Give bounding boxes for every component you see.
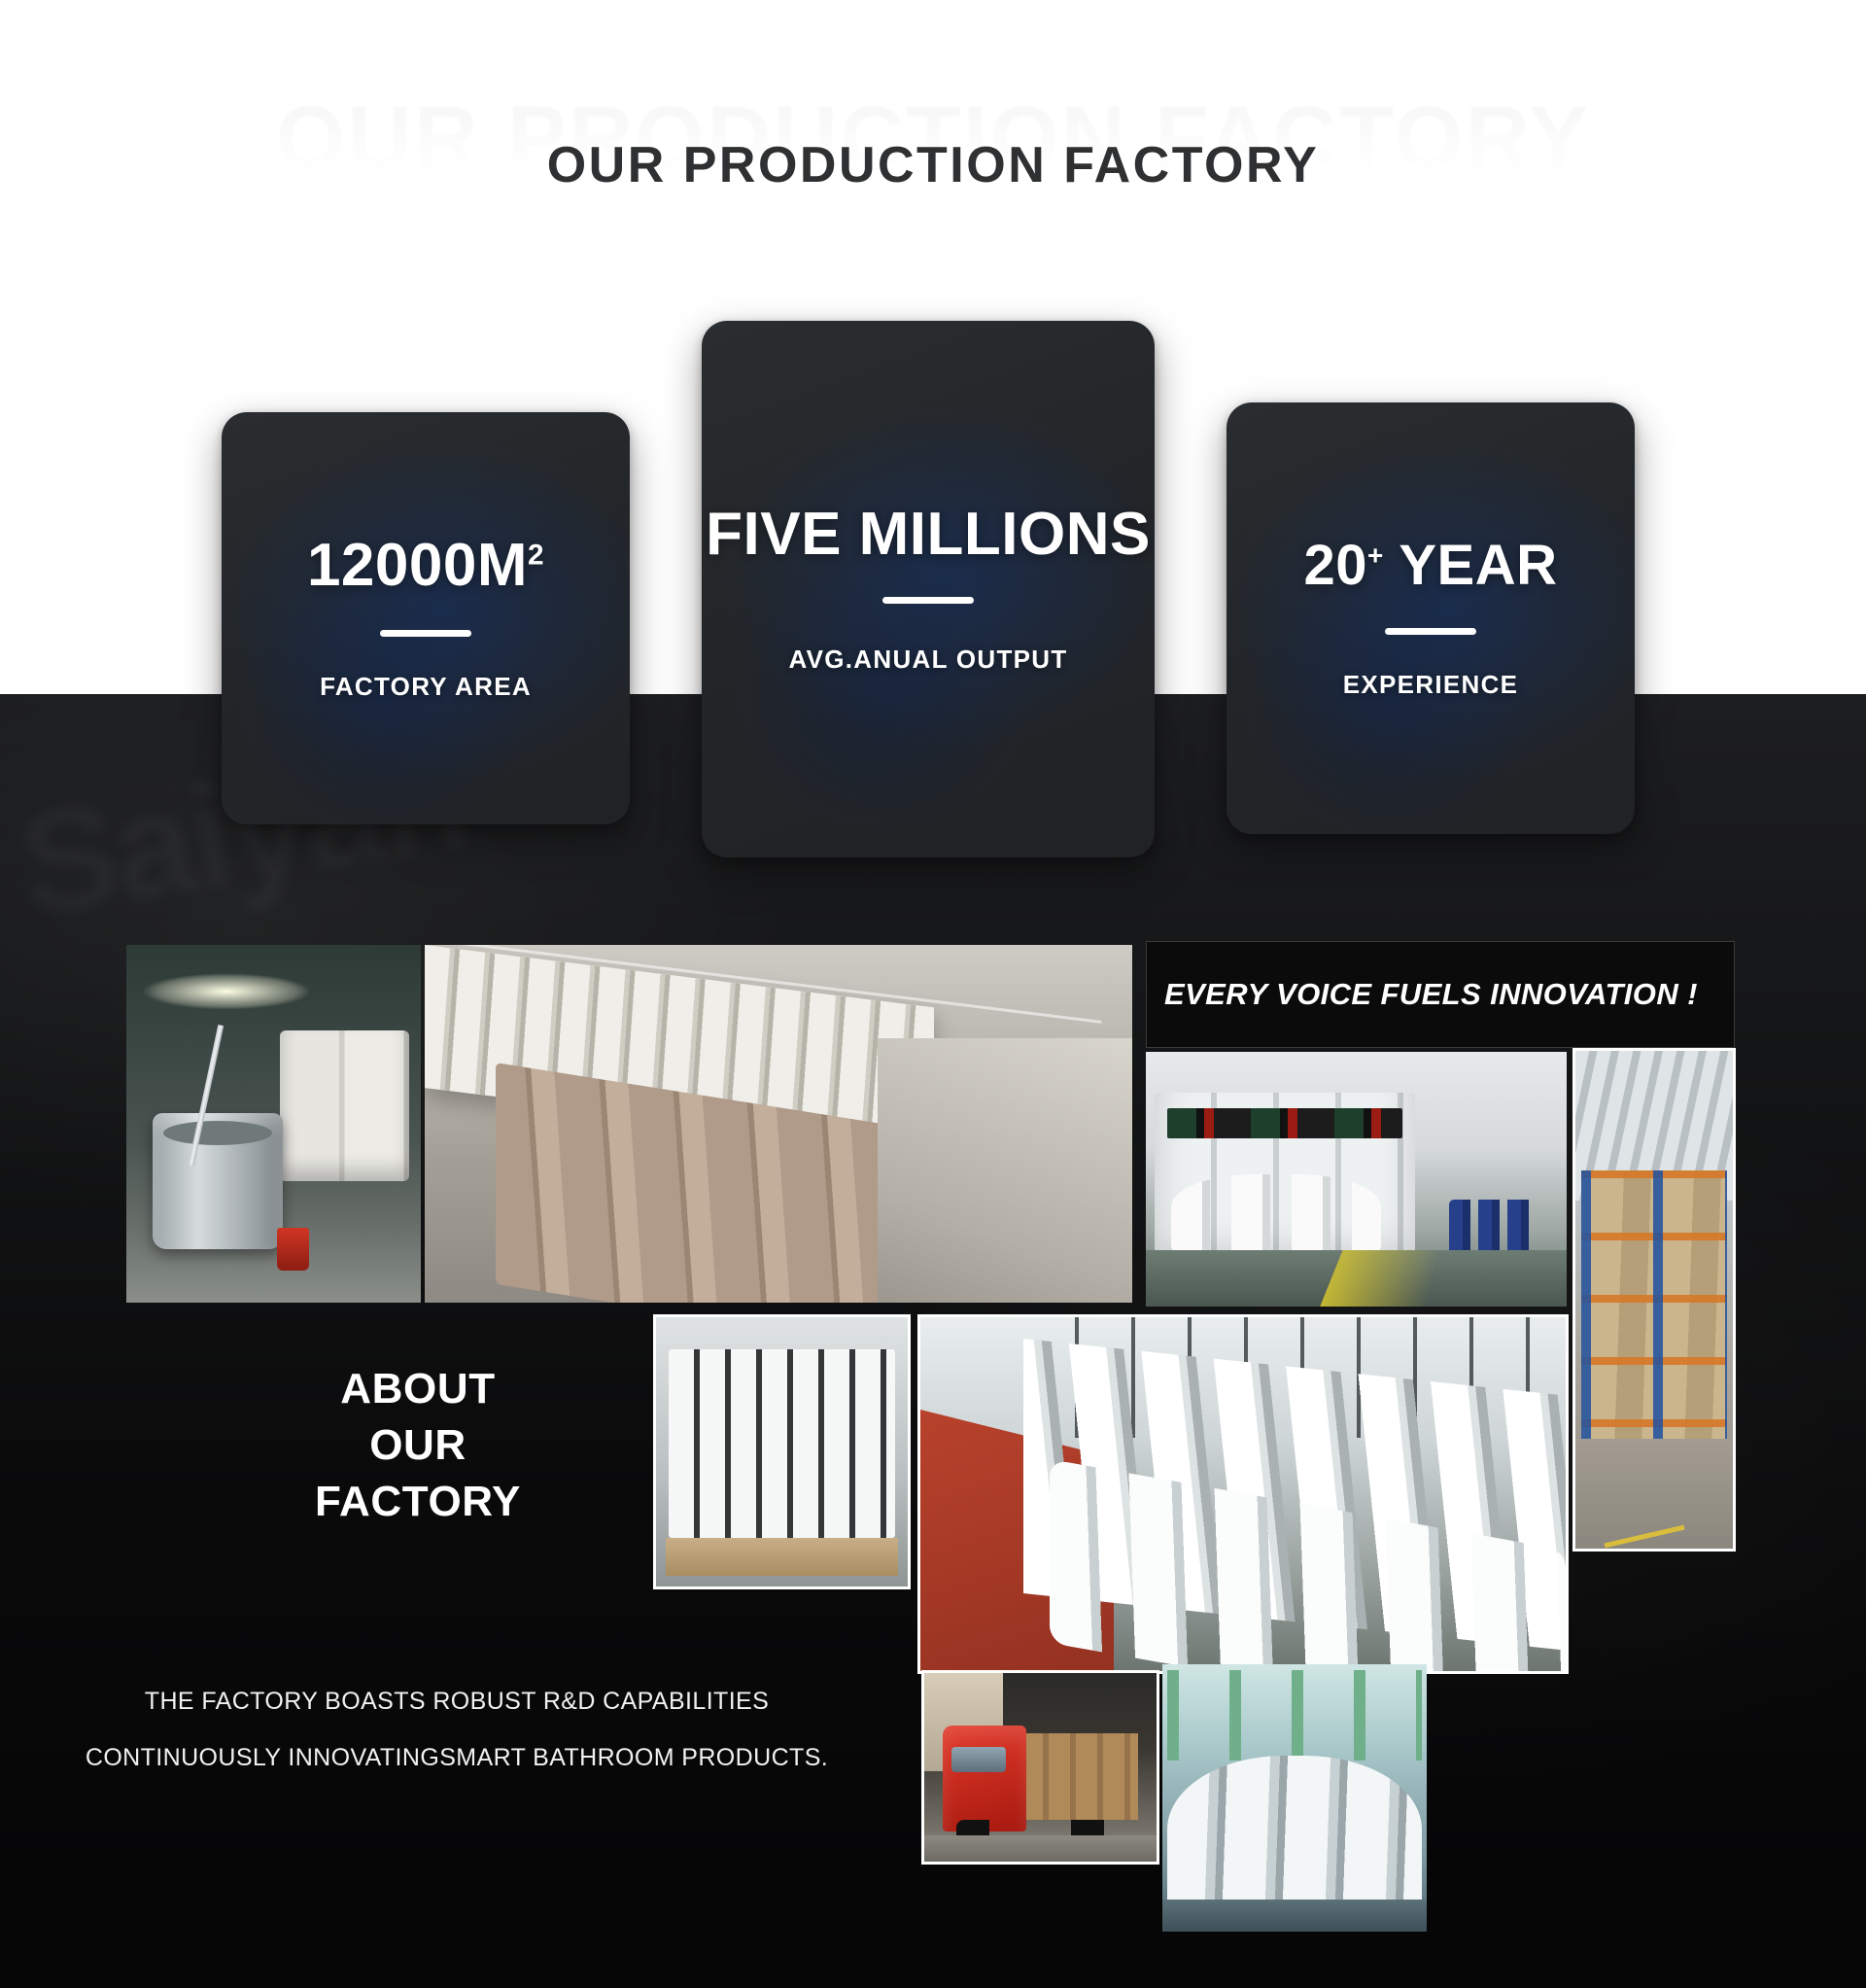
stat-label-experience: EXPERIENCE (1343, 670, 1519, 700)
stat-value-superscript: 2 (528, 540, 544, 572)
photo-smart-toilet-assembly-line (1146, 1052, 1567, 1307)
banner-text: EVERY VOICE FUELS INNOVATION ! (1147, 977, 1698, 1012)
photo-seat-cover-storage-rack (653, 1314, 911, 1589)
stat-value-annual-output: FIVE MILLIONS (706, 504, 1151, 565)
about-description-line-1: THE FACTORY BOASTS ROBUST R&D CAPABILITI… (19, 1674, 894, 1730)
stat-card-annual-output: FIVE MILLIONS AVG.ANUAL OUTPUT (702, 321, 1155, 857)
stat-value-unit: YEAR (1384, 534, 1558, 597)
divider (882, 597, 974, 604)
stat-label-annual-output: AVG.ANUAL OUTPUT (788, 645, 1067, 675)
about-description: THE FACTORY BOASTS ROBUST R&D CAPABILITI… (19, 1674, 894, 1786)
divider (380, 630, 471, 637)
photo-delivery-truck-loading (921, 1670, 1159, 1865)
innovation-banner: EVERY VOICE FUELS INNOVATION ! (1146, 941, 1735, 1048)
photo-seat-assembly-conveyor (917, 1314, 1569, 1674)
stat-card-experience: 20+ YEAR EXPERIENCE (1227, 402, 1635, 834)
about-heading-line-1: ABOUT (214, 1361, 622, 1417)
divider (1385, 628, 1476, 635)
stat-value-number: 12000M (307, 532, 528, 599)
stat-value-number: 20 (1304, 534, 1368, 597)
photo-ceramic-casting-line (425, 945, 1132, 1303)
stat-cards: 12000M2 FACTORY AREA FIVE MILLIONS AVG.A… (0, 0, 1866, 875)
photo-green-lit-seat-production-line (1162, 1664, 1427, 1932)
stat-label-factory-area: FACTORY AREA (320, 672, 532, 702)
about-heading-line-2: OUR (214, 1417, 622, 1474)
about-heading-line-3: FACTORY (214, 1474, 622, 1530)
stat-value-superscript: + (1367, 541, 1384, 571)
stat-card-factory-area: 12000M2 FACTORY AREA (222, 412, 630, 824)
stat-value-factory-area: 12000M2 (307, 535, 544, 596)
about-description-line-2: CONTINUOUSLY INNOVATINGSMART BATHROOM PR… (19, 1730, 894, 1787)
photo-slurry-mixing-room (126, 945, 421, 1303)
factory-page: OUR PRODUCTION FACTORY OUR PRODUCTION FA… (0, 0, 1866, 1988)
photo-warehouse-storage-racks (1572, 1048, 1736, 1552)
about-heading: ABOUT OUR FACTORY (214, 1361, 622, 1530)
stat-value-experience: 20+ YEAR (1304, 537, 1558, 594)
